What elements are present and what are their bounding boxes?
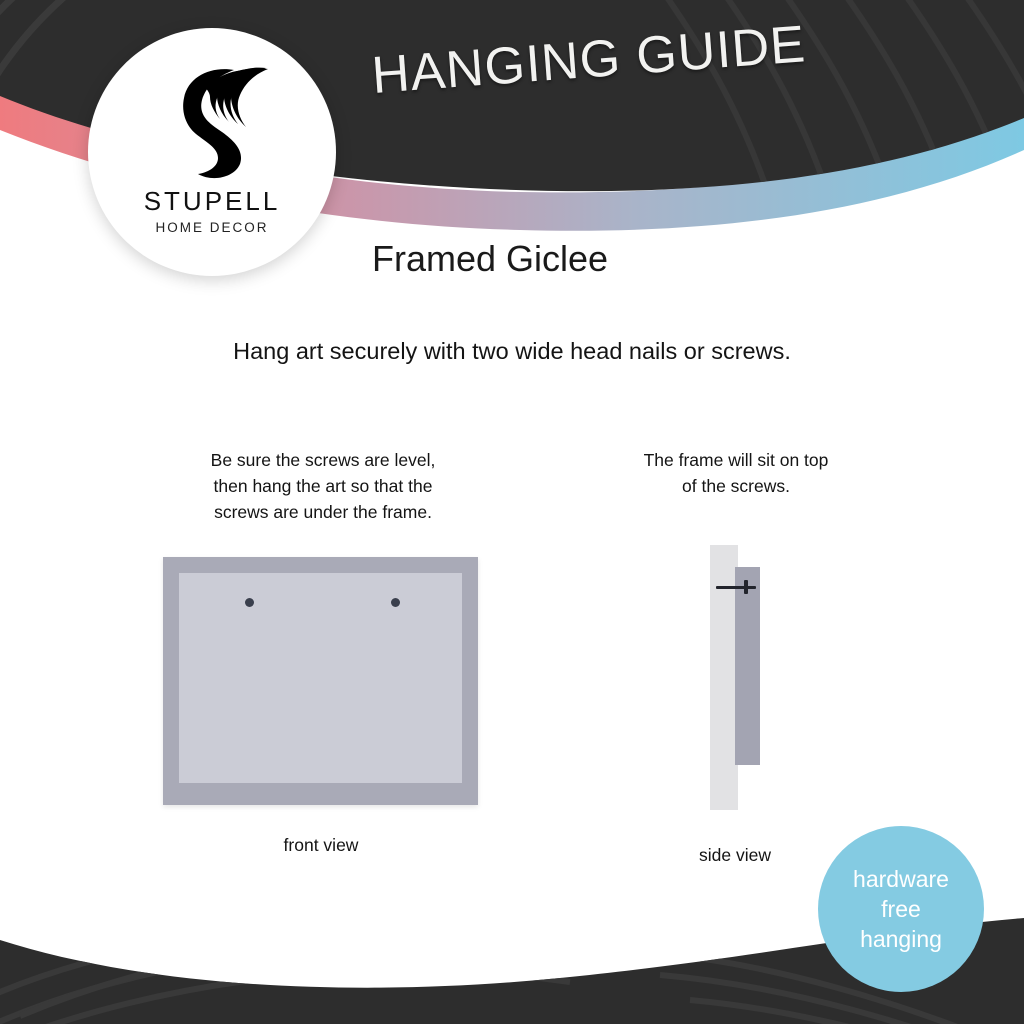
- side-view-caption: The frame will sit on top of the screws.: [588, 447, 884, 499]
- stupell-swoosh-logo-icon: [148, 54, 276, 182]
- hardware-free-hanging-badge: hardware free hanging: [818, 826, 984, 992]
- front-view-frame-diagram: [163, 557, 478, 805]
- front-caption-line-1: Be sure the screws are level,: [155, 447, 491, 473]
- side-view-label: side view: [640, 845, 830, 866]
- nail-shaft-icon: [716, 586, 756, 589]
- front-caption-line-3: screws are under the frame.: [155, 499, 491, 525]
- front-caption-line-2: then hang the art so that the: [155, 473, 491, 499]
- brand-logo-badge: STUPELL HOME DECOR: [88, 28, 336, 276]
- side-caption-line-2: of the screws.: [588, 473, 884, 499]
- nail-head-icon: [744, 580, 748, 594]
- badge-line-3: hanging: [860, 924, 942, 954]
- screw-dot-right: [391, 598, 400, 607]
- brand-name: STUPELL: [144, 186, 281, 217]
- front-view-caption: Be sure the screws are level, then hang …: [155, 447, 491, 525]
- side-caption-line-1: The frame will sit on top: [588, 447, 884, 473]
- hanging-guide-page: STUPELL HOME DECOR HANGING GUIDE Framed …: [0, 0, 1024, 1024]
- lead-instruction: Hang art securely with two wide head nai…: [0, 338, 1024, 365]
- screw-dot-left: [245, 598, 254, 607]
- brand-tagline: HOME DECOR: [155, 220, 268, 235]
- front-view-label: front view: [180, 835, 462, 856]
- product-title: Framed Giclee: [372, 238, 608, 280]
- badge-line-2: free: [881, 894, 921, 924]
- side-view-wall: [710, 545, 738, 810]
- frame-mat-area: [179, 573, 462, 783]
- page-title: HANGING GUIDE: [370, 14, 808, 106]
- side-view-frame: [735, 567, 760, 765]
- badge-line-1: hardware: [853, 864, 949, 894]
